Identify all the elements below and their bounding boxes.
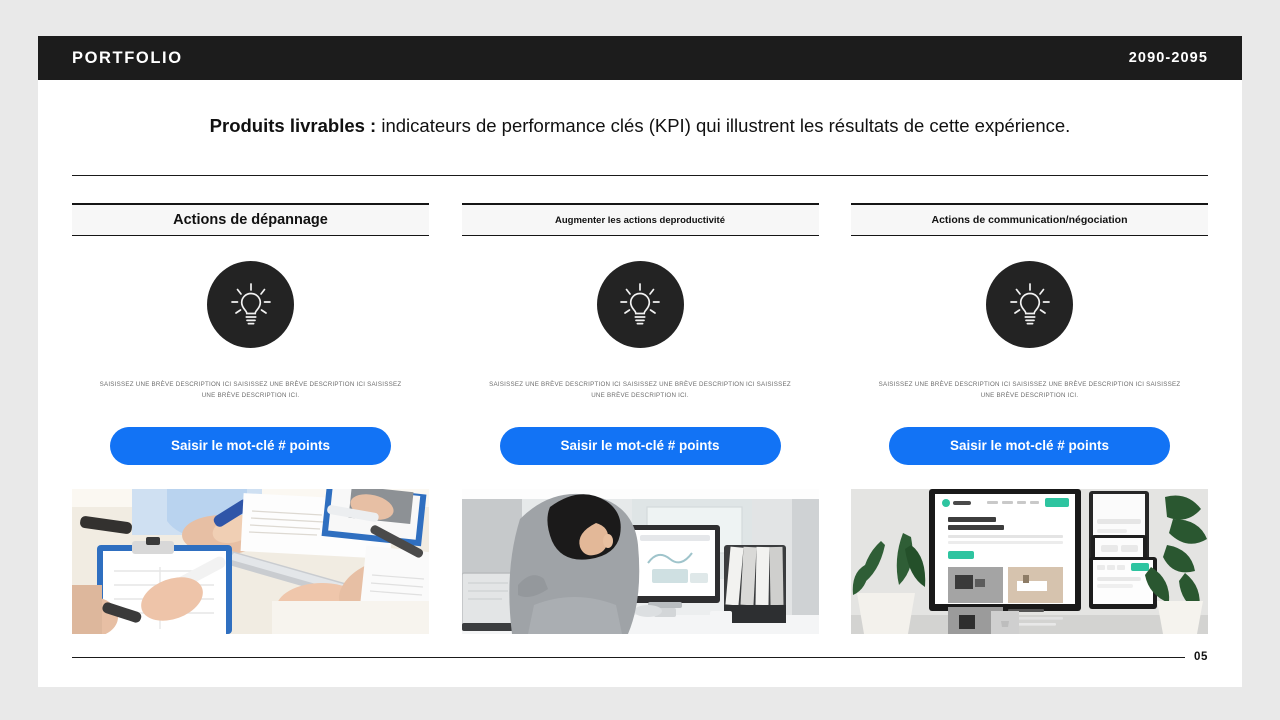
- column-header-1: Actions de dépannage: [72, 203, 429, 236]
- footer-divider: [72, 657, 1185, 658]
- icon-row-3: [851, 261, 1208, 348]
- icon-row-2: [462, 261, 819, 348]
- column-group: Actions de dépannage: [72, 203, 1208, 634]
- column-heading-label: Actions de communication/négociation: [931, 214, 1127, 226]
- keyword-points-button-3[interactable]: Saisir le mot-clé # points: [889, 427, 1170, 465]
- keyword-points-button-2[interactable]: Saisir le mot-clé # points: [500, 427, 781, 465]
- lightbulb-icon: [986, 261, 1073, 348]
- column-description-2: SAISISSEZ UNE BRÈVE DESCRIPTION ICI SAIS…: [462, 379, 819, 402]
- slide: PORTFOLIO 2090-2095 Produits livrables :…: [38, 36, 1242, 687]
- column-description-3: SAISISSEZ UNE BRÈVE DESCRIPTION ICI SAIS…: [851, 379, 1208, 402]
- column-troubleshooting: Actions de dépannage: [72, 203, 429, 634]
- column-description-1: SAISISSEZ UNE BRÈVE DESCRIPTION ICI SAIS…: [72, 379, 429, 402]
- slide-header-bar: PORTFOLIO 2090-2095: [38, 36, 1242, 80]
- column-communication: Actions de communication/négociation: [851, 203, 1208, 634]
- cta-row-2: Saisir le mot-clé # points: [462, 427, 819, 465]
- intro-body-text: indicateurs de performance clés (KPI) qu…: [376, 115, 1070, 136]
- column-photo-2: [462, 489, 819, 634]
- slide-footer: 05: [72, 651, 1208, 663]
- column-header-2: Augmenter les actions deproductivité: [462, 203, 819, 236]
- page-title: PORTFOLIO: [72, 49, 183, 68]
- column-productivity: Augmenter les actions deproductivité: [462, 203, 819, 634]
- header-year-range: 2090-2095: [1129, 50, 1208, 66]
- column-heading-label: Augmenter les actions deproductivité: [555, 215, 725, 226]
- column-heading-label: Actions de dépannage: [173, 212, 328, 228]
- cta-row-3: Saisir le mot-clé # points: [851, 427, 1208, 465]
- page-number: 05: [1194, 651, 1208, 663]
- top-divider: [72, 175, 1208, 176]
- lightbulb-icon: [597, 261, 684, 348]
- cta-row-1: Saisir le mot-clé # points: [72, 427, 429, 465]
- icon-row-1: [72, 261, 429, 348]
- column-photo-1: [72, 489, 429, 634]
- keyword-points-button-1[interactable]: Saisir le mot-clé # points: [110, 427, 391, 465]
- lightbulb-icon: [207, 261, 294, 348]
- intro-lead-text: Produits livrables :: [210, 115, 377, 136]
- column-header-3: Actions de communication/négociation: [851, 203, 1208, 236]
- column-photo-3: [851, 489, 1208, 634]
- intro-sentence: Produits livrables : indicateurs de perf…: [38, 114, 1242, 138]
